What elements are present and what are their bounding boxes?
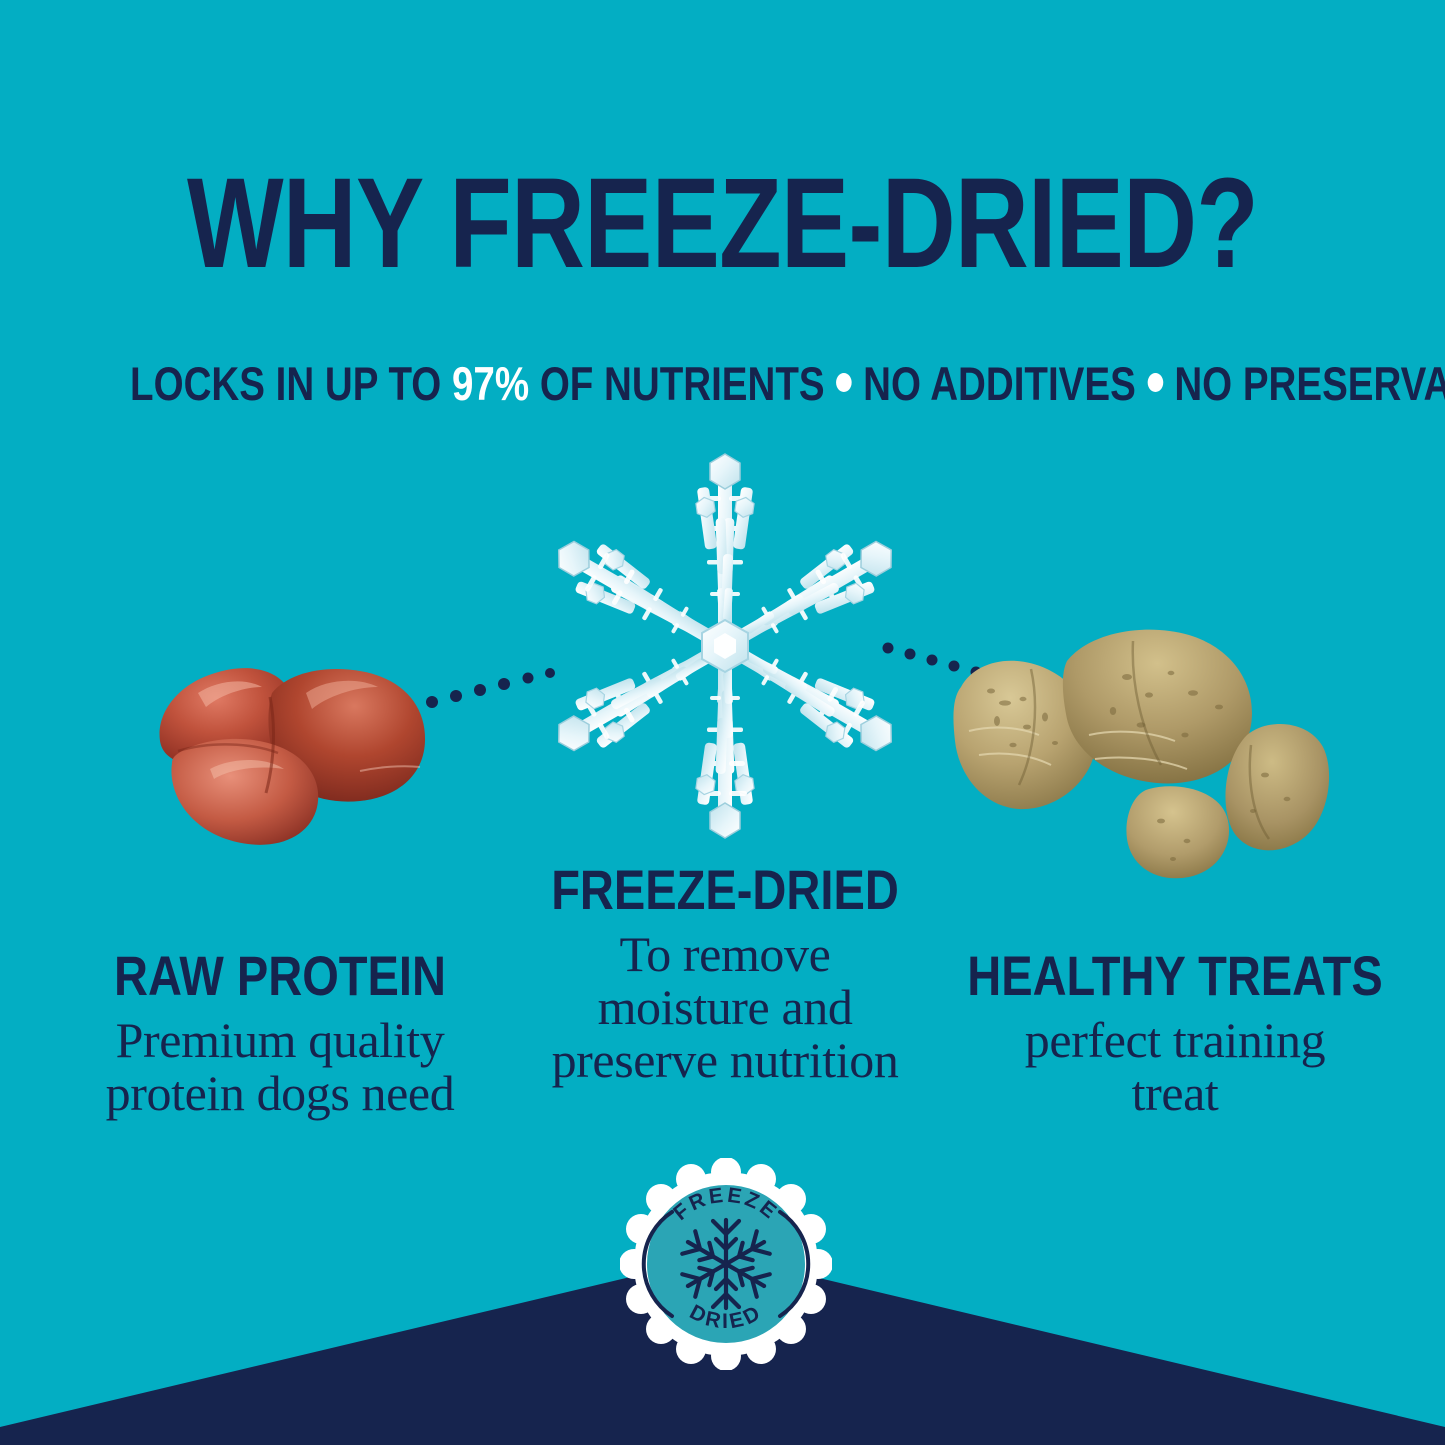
column-body-raw-protein: Premium quality protein dogs need <box>20 1014 540 1120</box>
claim-no-additives: NO ADDITIVES <box>863 357 1136 410</box>
claim-no-preservatives: NO PRESERVATIVES <box>1174 357 1445 410</box>
page-title: WHY FREEZE-DRIED? <box>145 160 1301 288</box>
body-line: treat <box>915 1067 1435 1120</box>
column-healthy-treats: HEALTHY TREATS perfect training treat <box>915 948 1435 1120</box>
bullet-separator-icon <box>836 373 852 392</box>
body-line: protein dogs need <box>20 1067 540 1120</box>
body-line: Premium quality <box>20 1014 540 1067</box>
column-freeze-dried: FREEZE-DRIED To remove moisture and pres… <box>475 862 975 1087</box>
infographic-canvas: WHY FREEZE-DRIED? LOCKS IN UP TO 97% OF … <box>0 0 1445 1445</box>
body-line: perfect training <box>915 1014 1435 1067</box>
nutrient-percent: 97% <box>452 357 529 410</box>
column-body-freeze-dried: To remove moisture and preserve nutritio… <box>475 928 975 1087</box>
freeze-dried-seal-badge: FREEZE DRIED <box>620 1158 832 1370</box>
subtitle-middle: OF NUTRIENTS <box>529 357 824 410</box>
subtitle-prefix: LOCKS IN UP TO <box>130 357 452 410</box>
column-raw-protein: RAW PROTEIN Premium quality protein dogs… <box>20 948 540 1120</box>
column-body-healthy-treats: perfect training treat <box>915 1014 1435 1120</box>
body-line: To remove <box>475 928 975 981</box>
freeze-dried-treats-image <box>935 625 1335 890</box>
column-heading-freeze-dried: FREEZE-DRIED <box>515 862 935 918</box>
raw-meat-image <box>120 645 460 870</box>
column-heading-healthy-treats: HEALTHY TREATS <box>957 948 1394 1004</box>
subtitle-claims: LOCKS IN UP TO 97% OF NUTRIENTSNO ADDITI… <box>130 360 1315 407</box>
snowflake-image <box>527 448 923 844</box>
bullet-separator-icon <box>1147 373 1163 392</box>
body-line: preserve nutrition <box>475 1034 975 1087</box>
column-heading-raw-protein: RAW PROTEIN <box>62 948 499 1004</box>
body-line: moisture and <box>475 981 975 1034</box>
